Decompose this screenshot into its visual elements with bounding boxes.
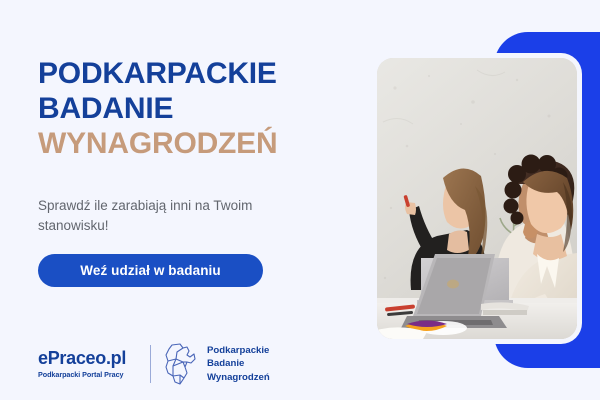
take-part-in-survey-button[interactable]: Weź udział w badaniu bbox=[38, 254, 263, 287]
footer-divider bbox=[150, 345, 151, 383]
brand-name: ePraceo.pl bbox=[38, 349, 142, 369]
headline-line-3: WYNAGRODZEŃ bbox=[38, 127, 277, 160]
content-column: PODKARPACKIE BADANIE WYNAGRODZEŃ Sprawdź… bbox=[38, 0, 368, 400]
team-working-photo bbox=[377, 58, 577, 339]
promo-banner: PODKARPACKIE BADANIE WYNAGRODZEŃ Sprawdź… bbox=[0, 0, 600, 400]
hero-photo-card bbox=[377, 58, 577, 339]
brand-tagline: Podkarpacki Portal Pracy bbox=[38, 371, 142, 379]
survey-brand-name: Podkarpackie Badanie Wynagrodzeń bbox=[207, 344, 270, 385]
headline-line-1: PODKARPACKIE bbox=[38, 57, 277, 90]
epraceo-logo[interactable]: ePraceo.pl Podkarpacki Portal Pracy bbox=[38, 349, 142, 379]
headline-line-2: BADANIE bbox=[38, 92, 173, 125]
podkarpackie-map-icon bbox=[163, 342, 197, 386]
footer-logo-lockup: ePraceo.pl Podkarpacki Portal Pracy Podk… bbox=[38, 340, 270, 388]
page-title: PODKARPACKIE BADANIE WYNAGRODZEŃ bbox=[38, 56, 368, 161]
subtitle: Sprawdź ile zarabiają inni na Twoim stan… bbox=[38, 196, 306, 237]
